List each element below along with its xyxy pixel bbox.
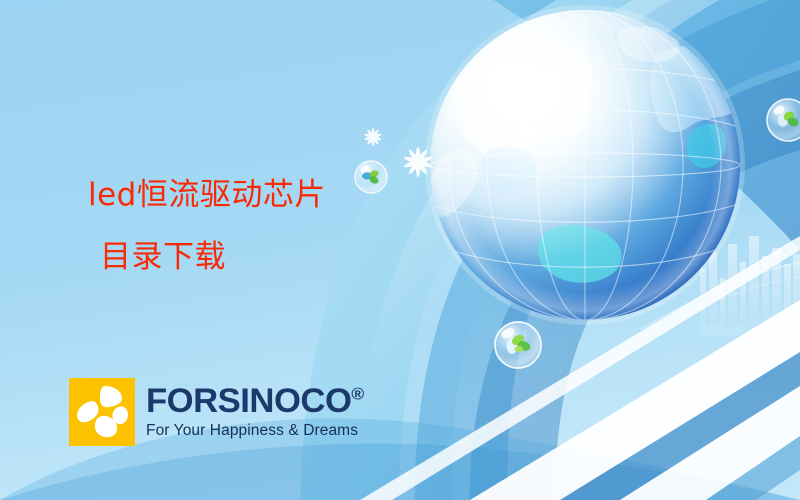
bubble-pinwheel-medium xyxy=(495,322,541,368)
forsinoco-pinwheel-mark xyxy=(69,378,135,446)
logo-brand-name: FORSINOCO® xyxy=(146,384,364,418)
registered-trademark-icon: ® xyxy=(351,385,363,404)
logo-tagline: For Your Happiness & Dreams xyxy=(146,421,359,440)
logo-brand-name-text: FORSINOCO xyxy=(146,382,351,420)
bubble-pinwheel-small xyxy=(355,161,387,193)
brand-logo: FORSINOCO® For Your Happiness & Dreams xyxy=(69,378,359,446)
bubble-pinwheel-edge xyxy=(767,99,800,141)
pinwheel-icon xyxy=(69,378,135,446)
promo-banner: led恒流驱动芯片 目录下载 FORSINOCO® For Your Happi… xyxy=(0,0,800,500)
logo-wordmark: FORSINOCO® For Your Happiness & Dreams xyxy=(146,384,359,440)
